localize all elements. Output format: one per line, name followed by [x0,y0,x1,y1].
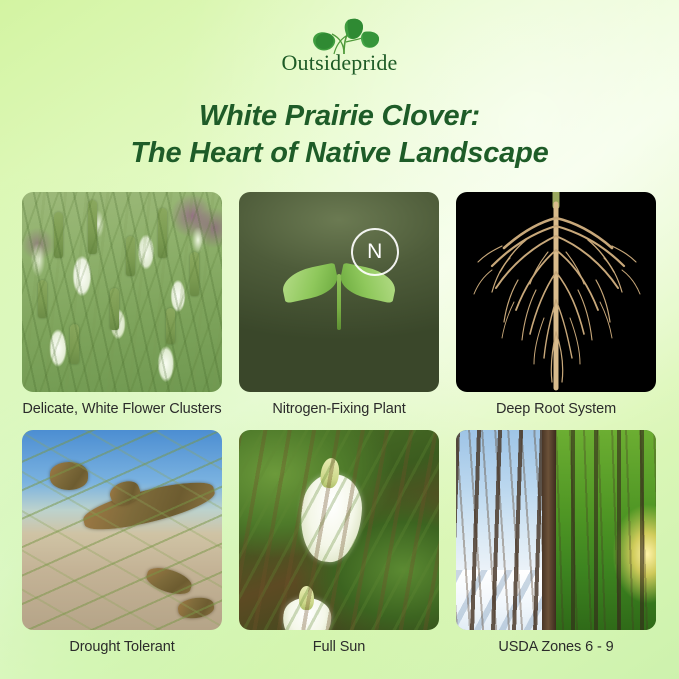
flower-clusters-photo [22,192,222,392]
seedling-stem [337,274,341,330]
usda-zones-photo [456,430,656,630]
page-title: White Prairie Clover: The Heart of Nativ… [0,98,679,172]
summer-half [548,430,656,630]
snow-ground [456,570,548,630]
feature-grid: Delicate, White Flower Clusters N Nitrog… [22,192,657,659]
infographic-poster: Outsidepride White Prairie Clover: The H… [0,0,679,679]
feature-card-flower-clusters: Delicate, White Flower Clusters [22,192,222,421]
feature-caption: Drought Tolerant [69,639,174,659]
feature-card-drought-tolerant: Drought Tolerant [22,430,222,659]
feature-caption: USDA Zones 6 - 9 [498,639,613,659]
deep-roots-photo [456,192,656,392]
winter-half [456,430,548,630]
foreground-trunk [542,430,556,630]
drought-tolerant-photo [22,430,222,630]
feature-caption: Nitrogen-Fixing Plant [272,401,405,421]
seedling-leaf-left [279,263,340,304]
feature-card-nitrogen-fixing: N Nitrogen-Fixing Plant [239,192,439,421]
feature-card-full-sun: Full Sun [239,430,439,659]
feature-caption: Full Sun [313,639,365,659]
feature-card-deep-roots: Deep Root System [456,192,656,421]
nitrogen-badge-icon: N [351,228,399,276]
nitrogen-fixing-photo: N [239,192,439,392]
feature-caption: Deep Root System [496,401,616,421]
full-sun-photo [239,430,439,630]
feature-card-usda-zones: USDA Zones 6 - 9 [456,430,656,659]
brand-logo: Outsidepride [0,14,679,74]
title-line-2: The Heart of Native Landscape [0,135,679,172]
feature-caption: Delicate, White Flower Clusters [22,401,221,421]
brand-name: Outsidepride [281,52,397,74]
root-system-illustration [456,192,656,392]
title-line-1: White Prairie Clover: [0,98,679,135]
